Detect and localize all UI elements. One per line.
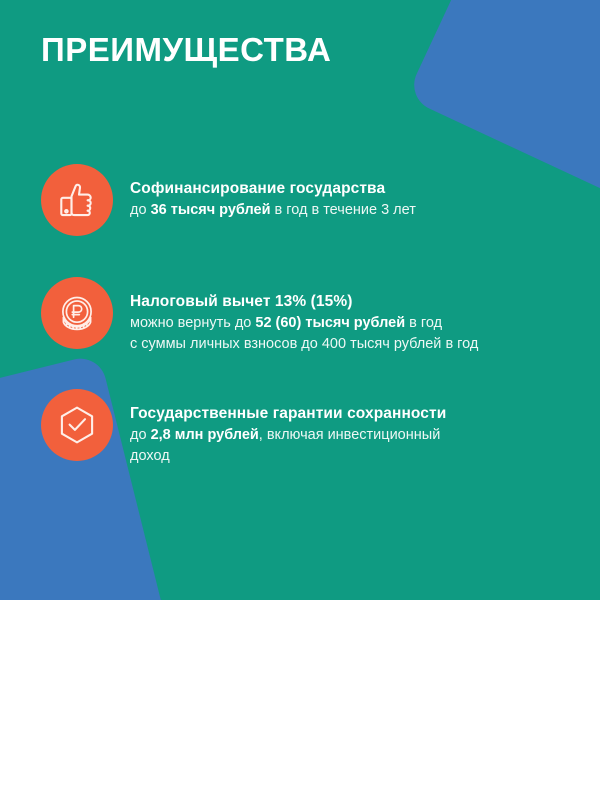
benefit-description: до 36 тысяч рублей в год в течение 3 лет	[130, 200, 416, 221]
hexagon-check-icon	[41, 389, 113, 461]
benefit-description-line: до 2,8 млн рублей, включая инвестиционны…	[130, 425, 446, 446]
benefit-plain-text: в год	[405, 315, 442, 331]
benefit-description-line: до 36 тысяч рублей в год в течение 3 лет	[130, 200, 416, 221]
benefit-plain-text: с суммы личных взносов до 400 тысяч рубл…	[130, 336, 478, 352]
benefit-plain-text: доход	[130, 448, 170, 464]
decorative-blue-shape-top-right	[406, 0, 600, 224]
benefit-plain-text: до	[130, 202, 151, 218]
benefit-description: можно вернуть до 52 (60) тысяч рублей в …	[130, 313, 478, 354]
benefit-item: Государственные гарантии сохранностидо 2…	[41, 389, 446, 467]
benefit-text-block: Государственные гарантии сохранностидо 2…	[130, 389, 446, 467]
benefit-item: Софинансирование государствадо 36 тысяч …	[41, 164, 416, 236]
benefit-highlight-value: 2,8 млн рублей	[151, 427, 259, 443]
page-title: ПРЕИМУЩЕСТВА	[41, 33, 331, 68]
benefit-plain-text: , включая инвестиционный	[259, 427, 441, 443]
thumbs-up-icon	[41, 164, 113, 236]
benefit-description-line: с суммы личных взносов до 400 тысяч рубл…	[130, 334, 478, 355]
benefit-text-block: Софинансирование государствадо 36 тысяч …	[130, 164, 416, 221]
benefit-description-line: доход	[130, 446, 446, 467]
benefit-title: Софинансирование государства	[130, 179, 416, 198]
benefit-highlight-value: 52 (60) тысяч рублей	[255, 315, 405, 331]
slide-root: ПРЕИМУЩЕСТВА Софинансирование государств…	[0, 0, 600, 800]
benefit-item: Налоговый вычет 13% (15%)можно вернуть д…	[41, 277, 478, 355]
benefit-plain-text: в год в течение 3 лет	[271, 202, 416, 218]
benefit-description: до 2,8 млн рублей, включая инвестиционны…	[130, 425, 446, 466]
benefit-title: Налоговый вычет 13% (15%)	[130, 292, 478, 311]
benefit-highlight-value: 36 тысяч рублей	[151, 202, 271, 218]
ruble-coin-icon	[41, 277, 113, 349]
benefit-description-line: можно вернуть до 52 (60) тысяч рублей в …	[130, 313, 478, 334]
benefit-text-block: Налоговый вычет 13% (15%)можно вернуть д…	[130, 277, 478, 355]
benefit-plain-text: можно вернуть до	[130, 315, 255, 331]
benefit-plain-text: до	[130, 427, 151, 443]
benefit-title: Государственные гарантии сохранности	[130, 404, 446, 423]
green-background-panel: ПРЕИМУЩЕСТВА Софинансирование государств…	[0, 0, 600, 600]
